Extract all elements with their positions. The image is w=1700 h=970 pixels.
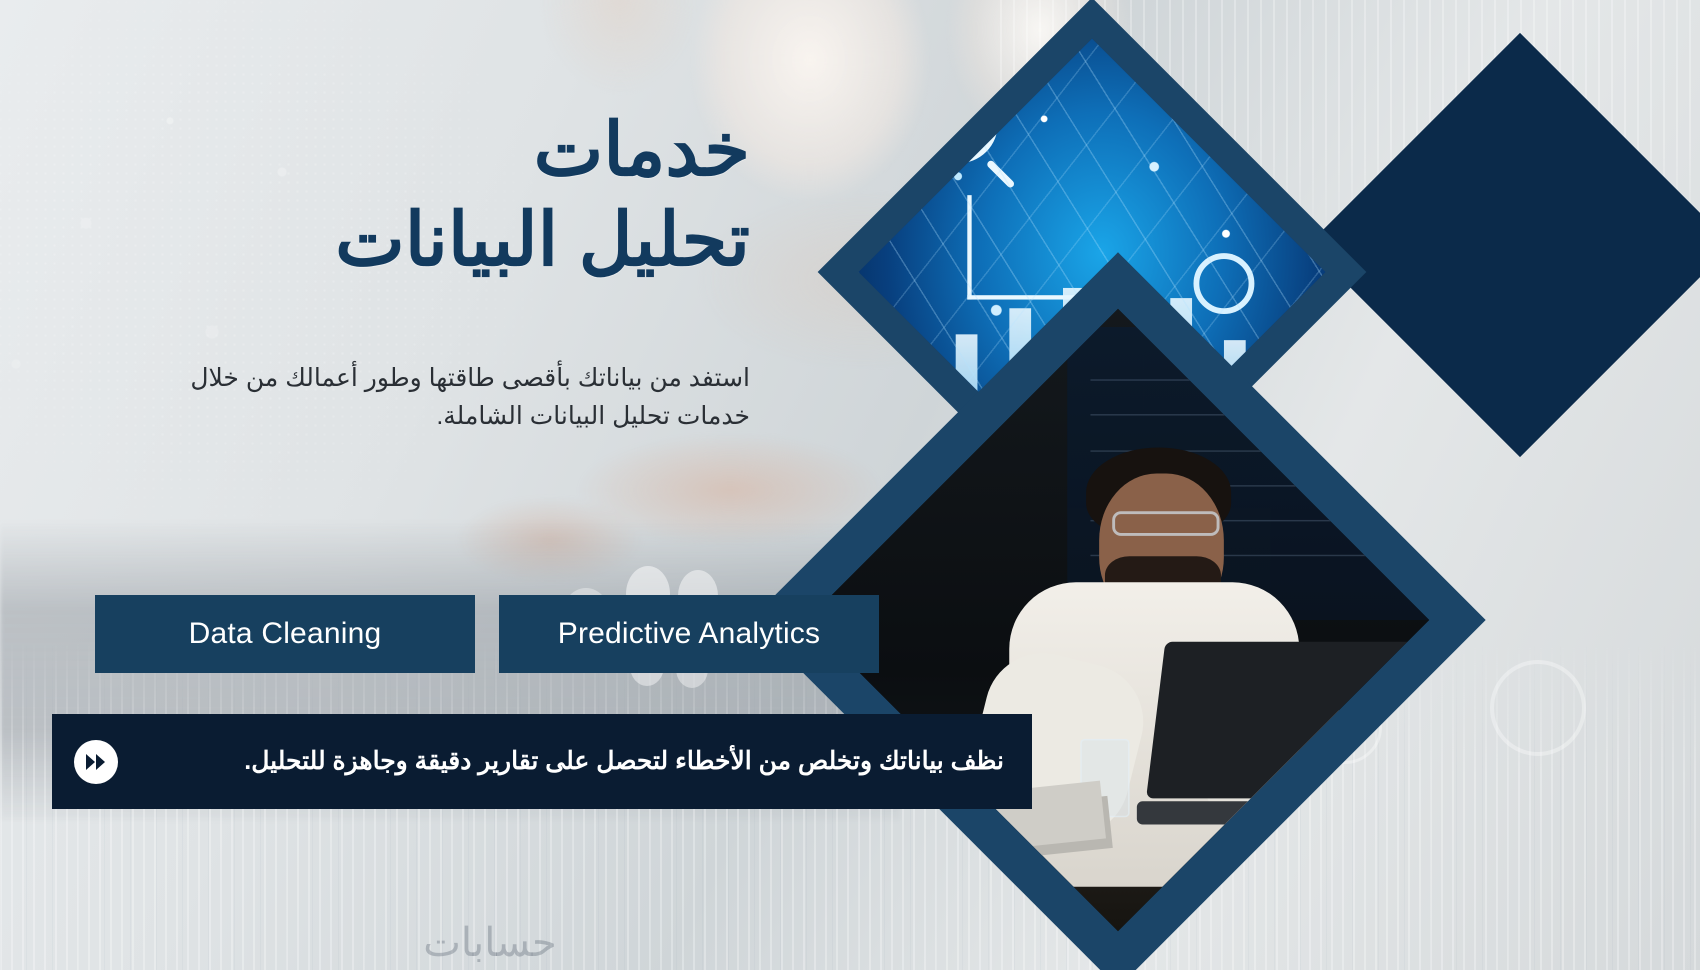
- hero-subheadline: استفد من بياناتك بأقصى طاقتها وطور أعمال…: [130, 360, 750, 435]
- pill-data-cleaning-label: Data Cleaning: [189, 617, 382, 651]
- graph-axes-icon: [968, 195, 1099, 299]
- headline-line-2: تحليل البيانات: [70, 195, 750, 285]
- callout-banner: نظف بياناتك وتخلص من الأخطاء لتحصل على ت…: [52, 714, 1032, 809]
- decorative-navy-diamond: [1308, 33, 1700, 457]
- gear-icon: [1194, 253, 1255, 314]
- watermark: حسابات: [423, 920, 557, 966]
- pill-data-cleaning[interactable]: Data Cleaning: [95, 595, 475, 673]
- headline-line-1: خدمات: [534, 108, 750, 191]
- callout-banner-text: نظف بياناتك وتخلص من الأخطاء لتحصل على ت…: [138, 745, 1004, 778]
- hero-content: خدمات تحليل البيانات استفد من بياناتك بأ…: [0, 0, 980, 970]
- pill-predictive-analytics-label: Predictive Analytics: [558, 617, 820, 651]
- page-title: خدمات تحليل البيانات: [70, 105, 750, 286]
- fast-forward-icon: [74, 740, 118, 784]
- pill-predictive-analytics[interactable]: Predictive Analytics: [499, 595, 879, 673]
- service-pill-group: Data Cleaning Predictive Analytics: [95, 595, 879, 673]
